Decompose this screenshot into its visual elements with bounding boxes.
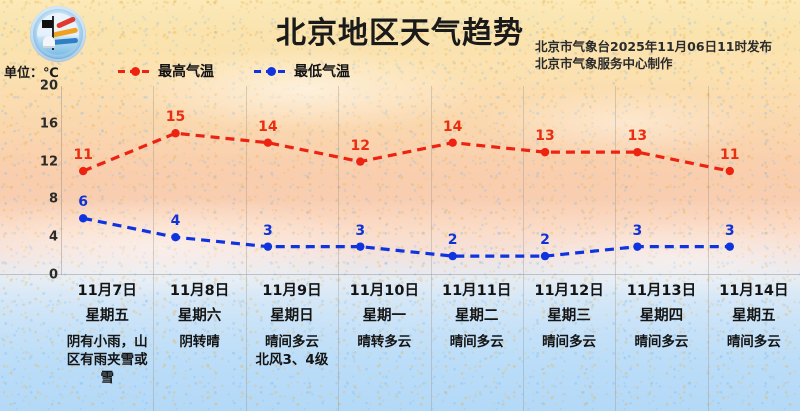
day-date: 11月11日 [431, 282, 523, 301]
day-column[interactable]: 11月12日星期三晴间多云 [523, 282, 615, 351]
data-point [171, 129, 179, 137]
data-point-label: 3 [263, 223, 273, 239]
day-condition: 晴间多云 [523, 333, 615, 351]
day-weekday: 星期六 [153, 307, 245, 326]
day-date: 11月13日 [615, 282, 707, 301]
data-point-label: 14 [443, 119, 462, 135]
day-condition: 晴间多云 北风3、4级 [246, 333, 338, 369]
day-date: 11月12日 [523, 282, 615, 301]
data-point-label: 3 [633, 223, 643, 239]
data-point [171, 233, 179, 241]
data-point-label: 13 [535, 128, 554, 144]
day-condition: 阴有小雨，山区有雨夹雪或雪 [61, 333, 153, 387]
data-point-label: 15 [166, 109, 185, 125]
data-point [448, 139, 456, 147]
data-point-label: 2 [540, 232, 550, 248]
day-column[interactable]: 11月13日星期四晴间多云 [615, 282, 707, 351]
day-date: 11月8日 [153, 282, 245, 301]
data-point [633, 242, 641, 250]
day-date: 11月10日 [338, 282, 430, 301]
data-point [356, 157, 364, 165]
data-point-label: 12 [351, 138, 370, 154]
day-weekday: 星期日 [246, 307, 338, 326]
weather-trend-chart: 北京地区天气趋势 北京市气象台2025年11月06日11时发布 北京市气象服务中… [0, 0, 800, 411]
data-point-label: 14 [258, 119, 277, 135]
data-point [264, 242, 272, 250]
day-column[interactable]: 11月9日星期日晴间多云 北风3、4级 [246, 282, 338, 369]
day-condition: 晴间多云 [615, 333, 707, 351]
day-column[interactable]: 11月10日星期一晴转多云 [338, 282, 430, 351]
data-point [448, 252, 456, 260]
day-condition: 晴转多云 [338, 333, 430, 351]
day-weekday: 星期五 [708, 307, 800, 326]
data-point-label: 11 [73, 147, 92, 163]
day-column[interactable]: 11月11日星期二晴间多云 [431, 282, 523, 351]
data-point [541, 252, 549, 260]
day-column[interactable]: 11月7日星期五阴有小雨，山区有雨夹雪或雪 [61, 282, 153, 387]
day-condition: 晴间多云 [431, 333, 523, 351]
day-date: 11月7日 [61, 282, 153, 301]
day-weekday: 星期二 [431, 307, 523, 326]
day-weekday: 星期一 [338, 307, 430, 326]
data-point-label: 3 [355, 223, 365, 239]
data-point [633, 148, 641, 156]
data-point-label: 13 [628, 128, 647, 144]
data-point-label: 3 [725, 223, 735, 239]
data-point [726, 167, 734, 175]
data-point [79, 167, 87, 175]
day-date: 11月9日 [246, 282, 338, 301]
day-column[interactable]: 11月14日星期五晴间多云 [708, 282, 800, 351]
data-point [264, 139, 272, 147]
day-date: 11月14日 [708, 282, 800, 301]
data-point-label: 2 [448, 232, 458, 248]
day-column[interactable]: 11月8日星期六阴转晴 [153, 282, 245, 351]
data-point [79, 214, 87, 222]
day-weekday: 星期三 [523, 307, 615, 326]
day-weekday: 星期五 [61, 307, 153, 326]
data-point [356, 242, 364, 250]
data-point-label: 11 [720, 147, 739, 163]
data-point-label: 4 [171, 213, 181, 229]
data-point [726, 242, 734, 250]
day-weekday: 星期四 [615, 307, 707, 326]
data-point [541, 148, 549, 156]
day-condition: 晴间多云 [708, 333, 800, 351]
data-point-label: 6 [78, 194, 88, 210]
day-condition: 阴转晴 [153, 333, 245, 351]
